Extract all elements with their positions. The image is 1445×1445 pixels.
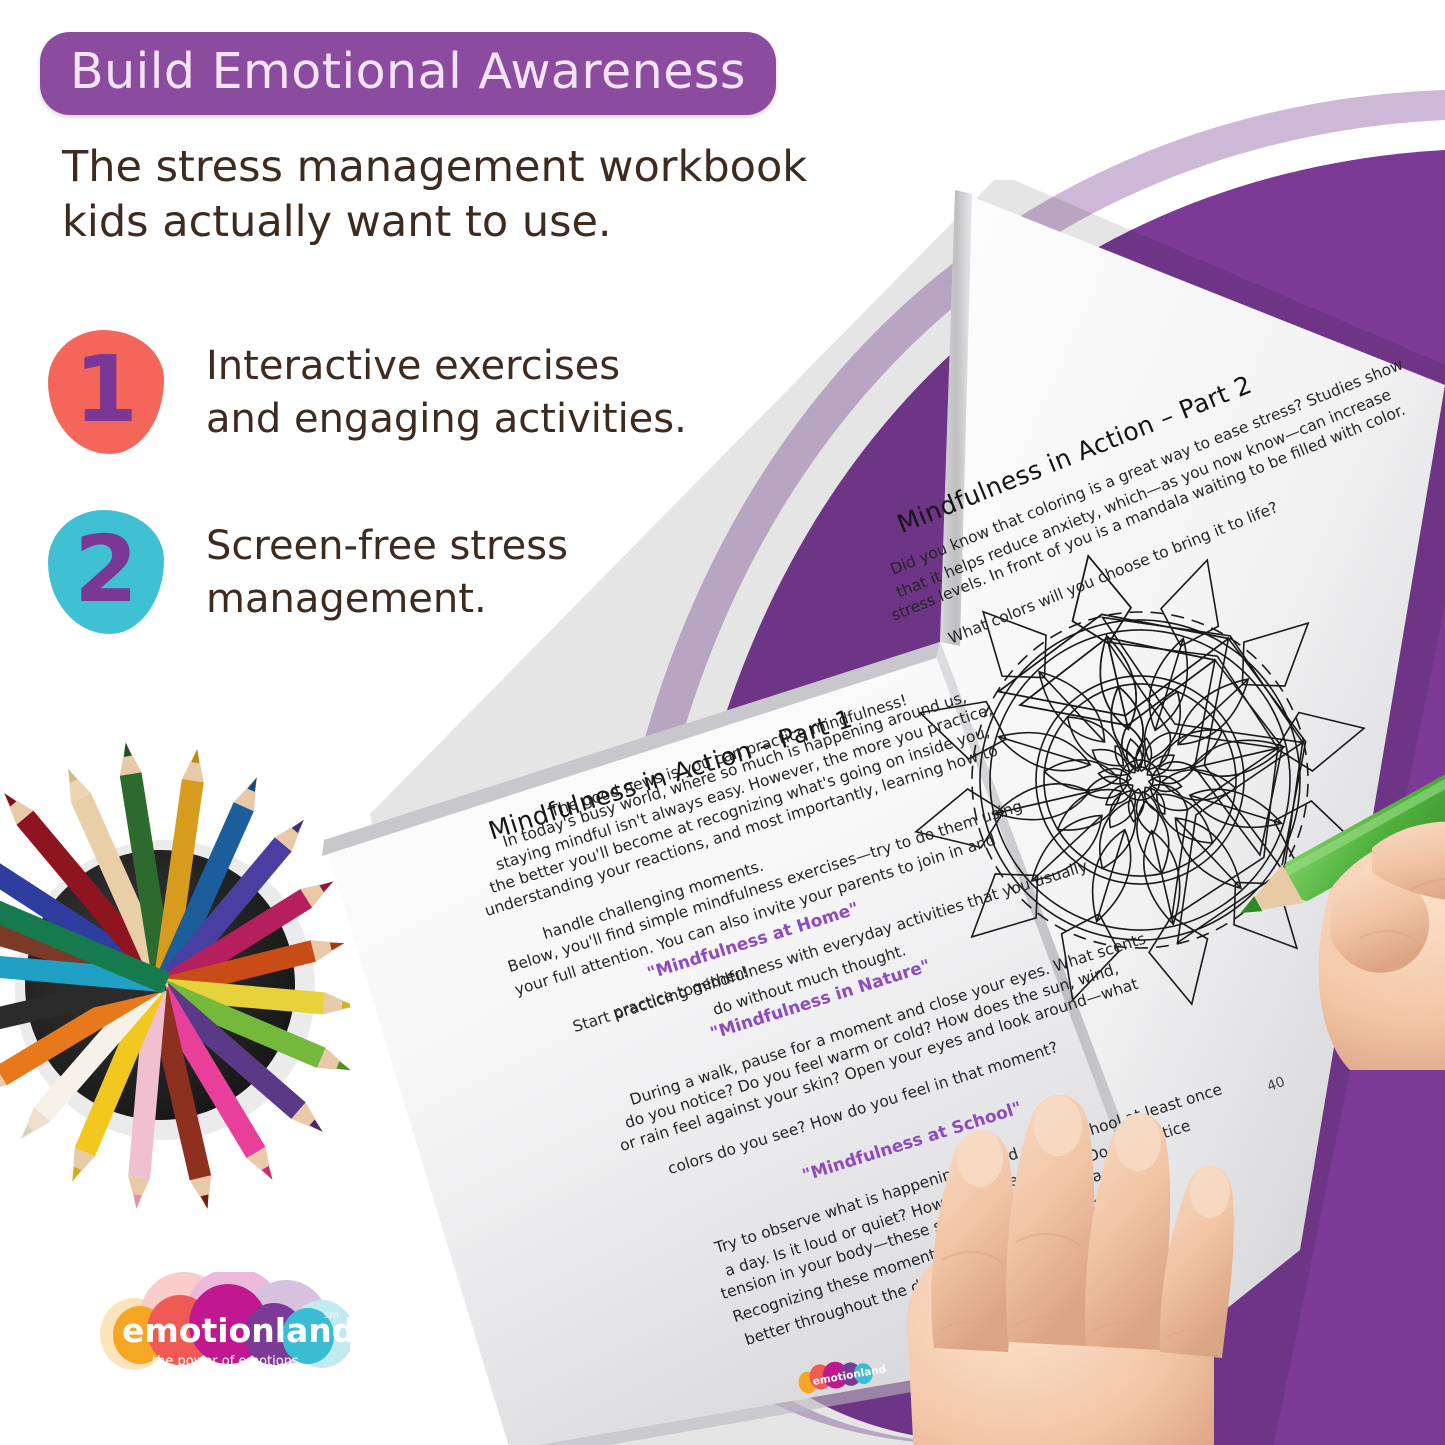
colored-pencils-photo bbox=[0, 720, 350, 1220]
logo-trademark: sm bbox=[324, 1310, 339, 1321]
promo-graphic: Build Emotional Awareness The stress man… bbox=[0, 0, 1445, 1445]
number-badge-2: 2 bbox=[48, 510, 164, 634]
hand-resting-photo bbox=[830, 1080, 1250, 1445]
number-badge-1-label: 1 bbox=[74, 344, 138, 436]
logo-wordmark: emotionland bbox=[122, 1311, 350, 1350]
number-badge-1: 1 bbox=[48, 330, 164, 454]
title-badge: Build Emotional Awareness bbox=[40, 32, 776, 115]
number-badge-2-label: 2 bbox=[74, 524, 138, 616]
hand-with-pencil-photo bbox=[1180, 740, 1445, 1070]
page-title: Build Emotional Awareness bbox=[70, 46, 746, 97]
emotionland-logo: emotionland sm the power of emotions bbox=[100, 1272, 350, 1384]
logo-tagline: the power of emotions bbox=[152, 1354, 299, 1369]
